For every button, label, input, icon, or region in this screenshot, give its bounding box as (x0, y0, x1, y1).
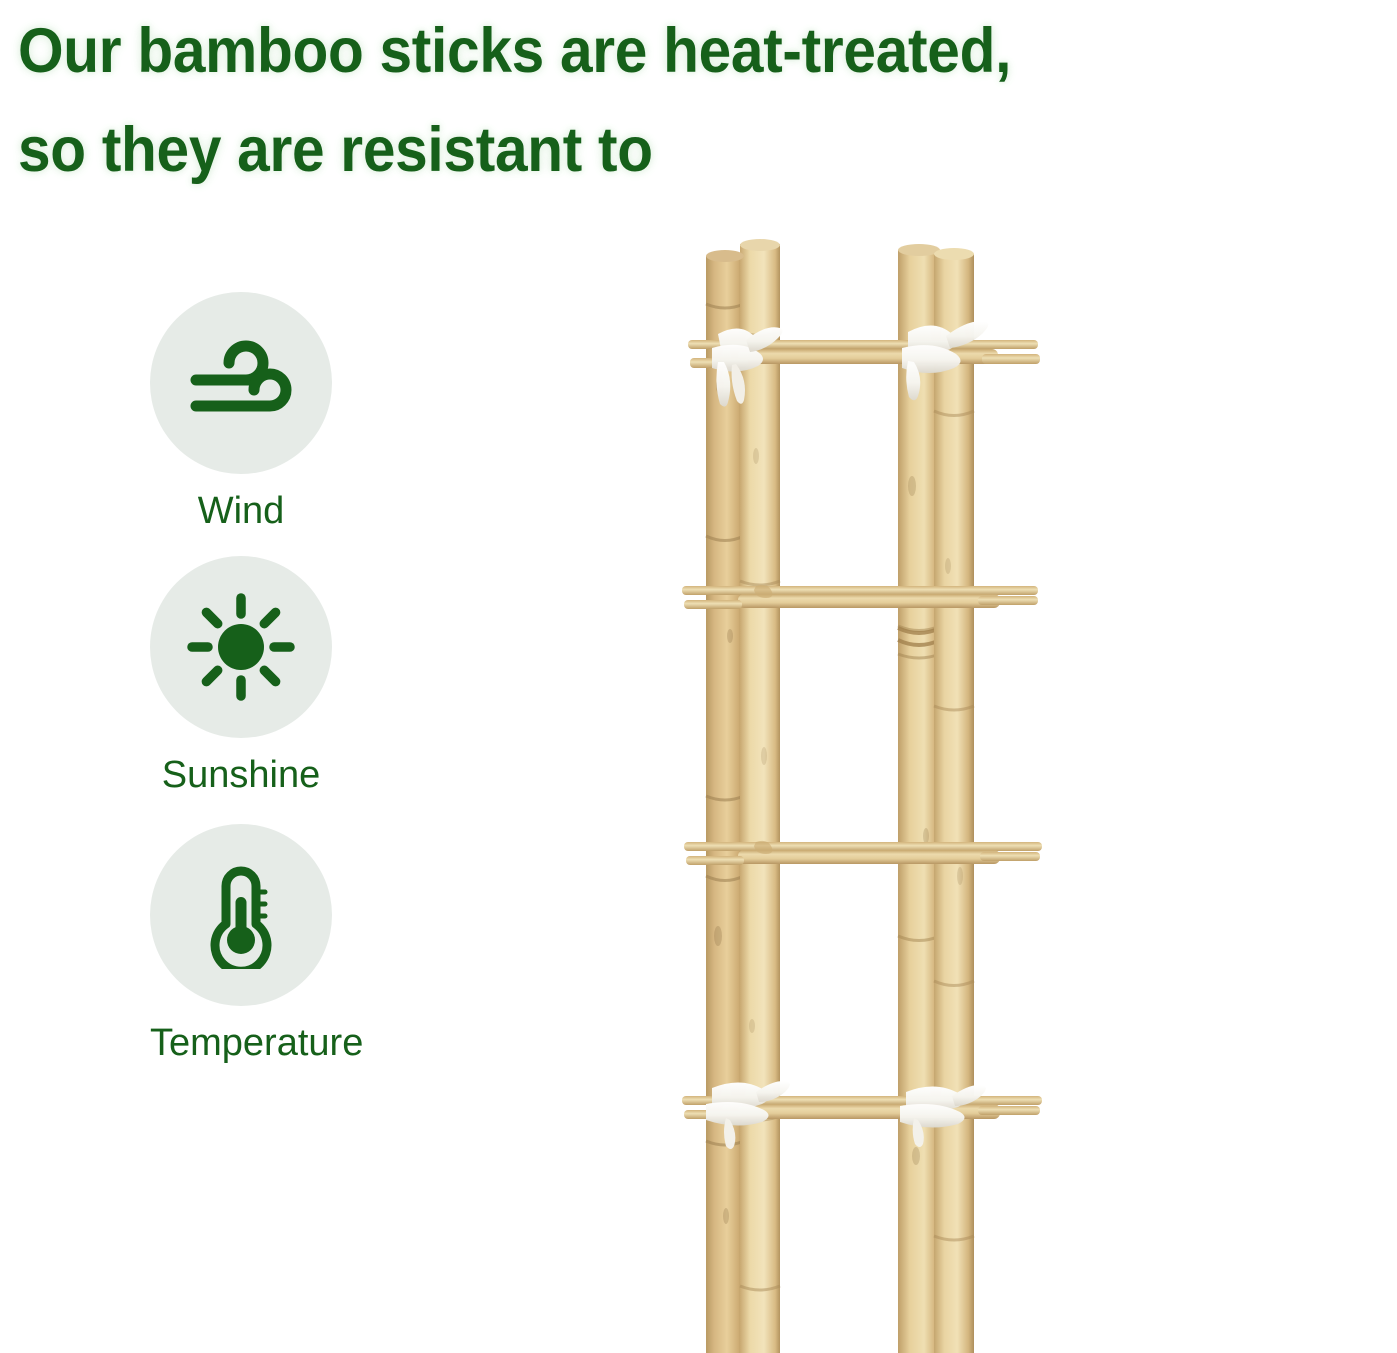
badge-temperature (150, 824, 332, 1006)
wind-icon (186, 328, 296, 438)
product-image-bamboo-trellis (660, 236, 1060, 1353)
feature-label-wind: Wind (150, 488, 332, 534)
feature-list: Wind (150, 292, 510, 1082)
feature-item-sunshine: Sunshine (150, 556, 510, 798)
infographic-page: Our bamboo sticks are heat-treated, so t… (0, 0, 1397, 1353)
thermometer-icon (187, 861, 295, 969)
sun-icon (185, 591, 297, 703)
feature-label-temperature: Temperature (150, 1020, 332, 1066)
feature-item-temperature: Temperature (150, 824, 510, 1066)
page-title: Our bamboo sticks are heat-treated, so t… (18, 2, 1143, 200)
feature-label-sunshine: Sunshine (150, 752, 332, 798)
badge-wind (150, 292, 332, 474)
badge-sunshine (150, 556, 332, 738)
feature-item-wind: Wind (150, 292, 510, 534)
